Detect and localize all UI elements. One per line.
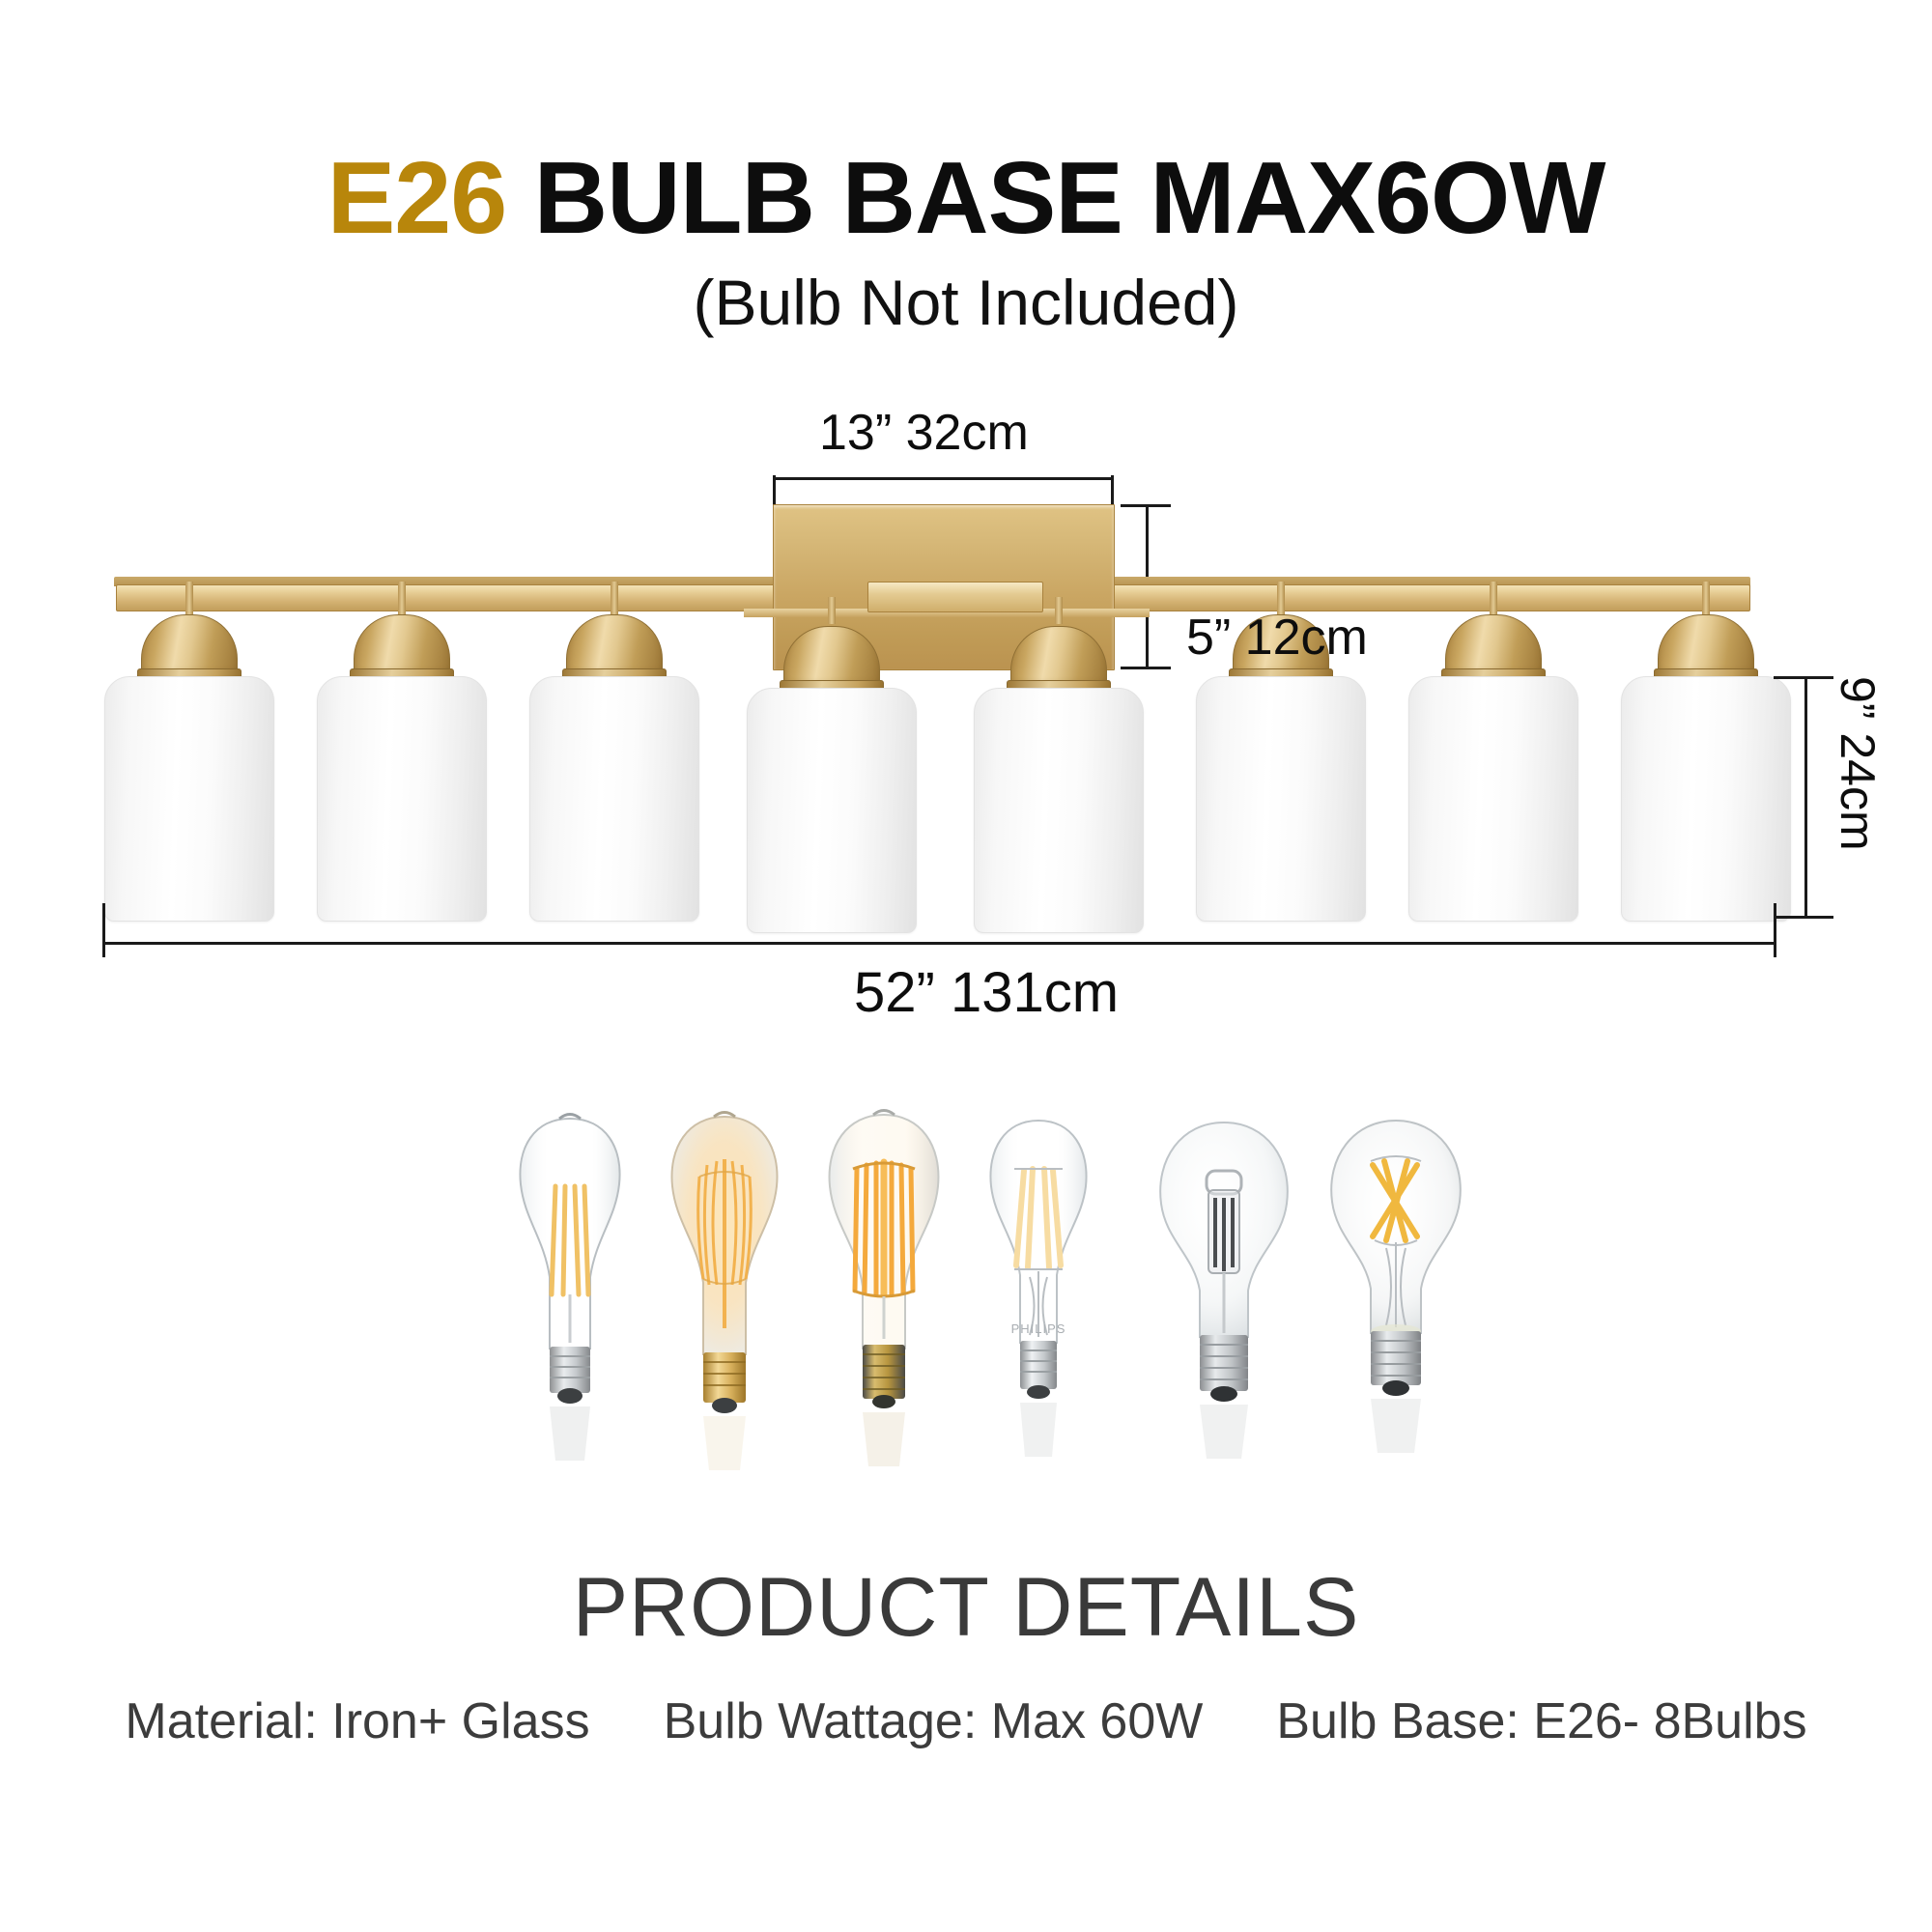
bulb-st64-vintage-squirrel-cage-filament xyxy=(797,1101,971,1512)
spec-bulb-wattage: Bulb Wattage: Max 60W xyxy=(664,1692,1204,1750)
dim-9-line xyxy=(1804,676,1807,918)
dim-13-line xyxy=(773,477,1114,480)
dim-52-line xyxy=(102,942,1776,945)
dim-9-tick-top xyxy=(1774,676,1833,679)
lamp-stem xyxy=(1055,597,1063,624)
spec-material: Material: Iron+ Glass xyxy=(125,1692,589,1750)
bulb-svg xyxy=(1309,1101,1483,1507)
socket-cap-icon xyxy=(566,614,663,676)
glass-shade xyxy=(974,688,1144,933)
product-details-heading: PRODUCT DETAILS xyxy=(0,1560,1932,1656)
bulb-st64-clear-led-filament xyxy=(488,1101,652,1512)
glass-shade xyxy=(1196,676,1366,922)
glass-shade xyxy=(1621,676,1791,922)
lamp-stem xyxy=(828,597,836,624)
fixture-crossbar xyxy=(867,582,1043,612)
glass-shade xyxy=(104,676,274,922)
bulb-svg xyxy=(1140,1101,1309,1507)
socket-cap-icon xyxy=(1445,614,1542,676)
dim-52-tick-right xyxy=(1774,903,1776,957)
dimension-label-backplate-width: 13” 32cm xyxy=(819,404,1029,462)
philips-brand-text: PHILIPS xyxy=(1011,1321,1066,1336)
bulb-svg xyxy=(488,1101,652,1507)
title-highlight-e26: E26 xyxy=(327,141,507,255)
dimension-label-backplate-height: 5” 12cm xyxy=(1186,609,1368,667)
bulb-a19-halogen xyxy=(1140,1101,1309,1512)
dimension-label-overall-width: 52” 131cm xyxy=(854,960,1119,1025)
dim-52-tick-left xyxy=(102,903,105,957)
dim-9-tick-bottom xyxy=(1774,916,1833,919)
title-rest: BULB BASE MAX6OW xyxy=(506,141,1605,255)
glass-shade xyxy=(747,688,917,933)
spec-bulb-base: Bulb Base: E26- 8Bulbs xyxy=(1276,1692,1806,1750)
socket-cap-icon xyxy=(354,614,450,676)
bulb-svg xyxy=(797,1101,971,1507)
bulb-st19-philips-led-filament: PHILIPS xyxy=(956,1101,1121,1512)
page-title: E26 BULB BASE MAX6OW xyxy=(0,145,1932,252)
socket-cap-icon xyxy=(1658,614,1754,676)
glass-shade xyxy=(1408,676,1578,922)
product-details-specs: Material: Iron+ Glass Bulb Wattage: Max … xyxy=(0,1692,1932,1750)
glass-shade xyxy=(317,676,487,922)
bulb-gallery: PHILIPS xyxy=(0,1101,1932,1507)
bulb-svg xyxy=(638,1101,811,1507)
header-block: E26 BULB BASE MAX6OW (Bulb Not Included) xyxy=(0,145,1932,339)
product-diagram xyxy=(0,415,1932,1024)
glass-shade xyxy=(529,676,699,922)
bulb-a19-led-filament xyxy=(1309,1101,1483,1512)
bulb-st64-amber-vintage-cage-filament xyxy=(638,1101,811,1512)
dimension-label-shade-height: 9” 24cm xyxy=(1830,676,1886,851)
page-subtitle: (Bulb Not Included) xyxy=(0,266,1932,339)
socket-cap-icon xyxy=(141,614,238,676)
bulb-svg: PHILIPS xyxy=(956,1101,1121,1507)
